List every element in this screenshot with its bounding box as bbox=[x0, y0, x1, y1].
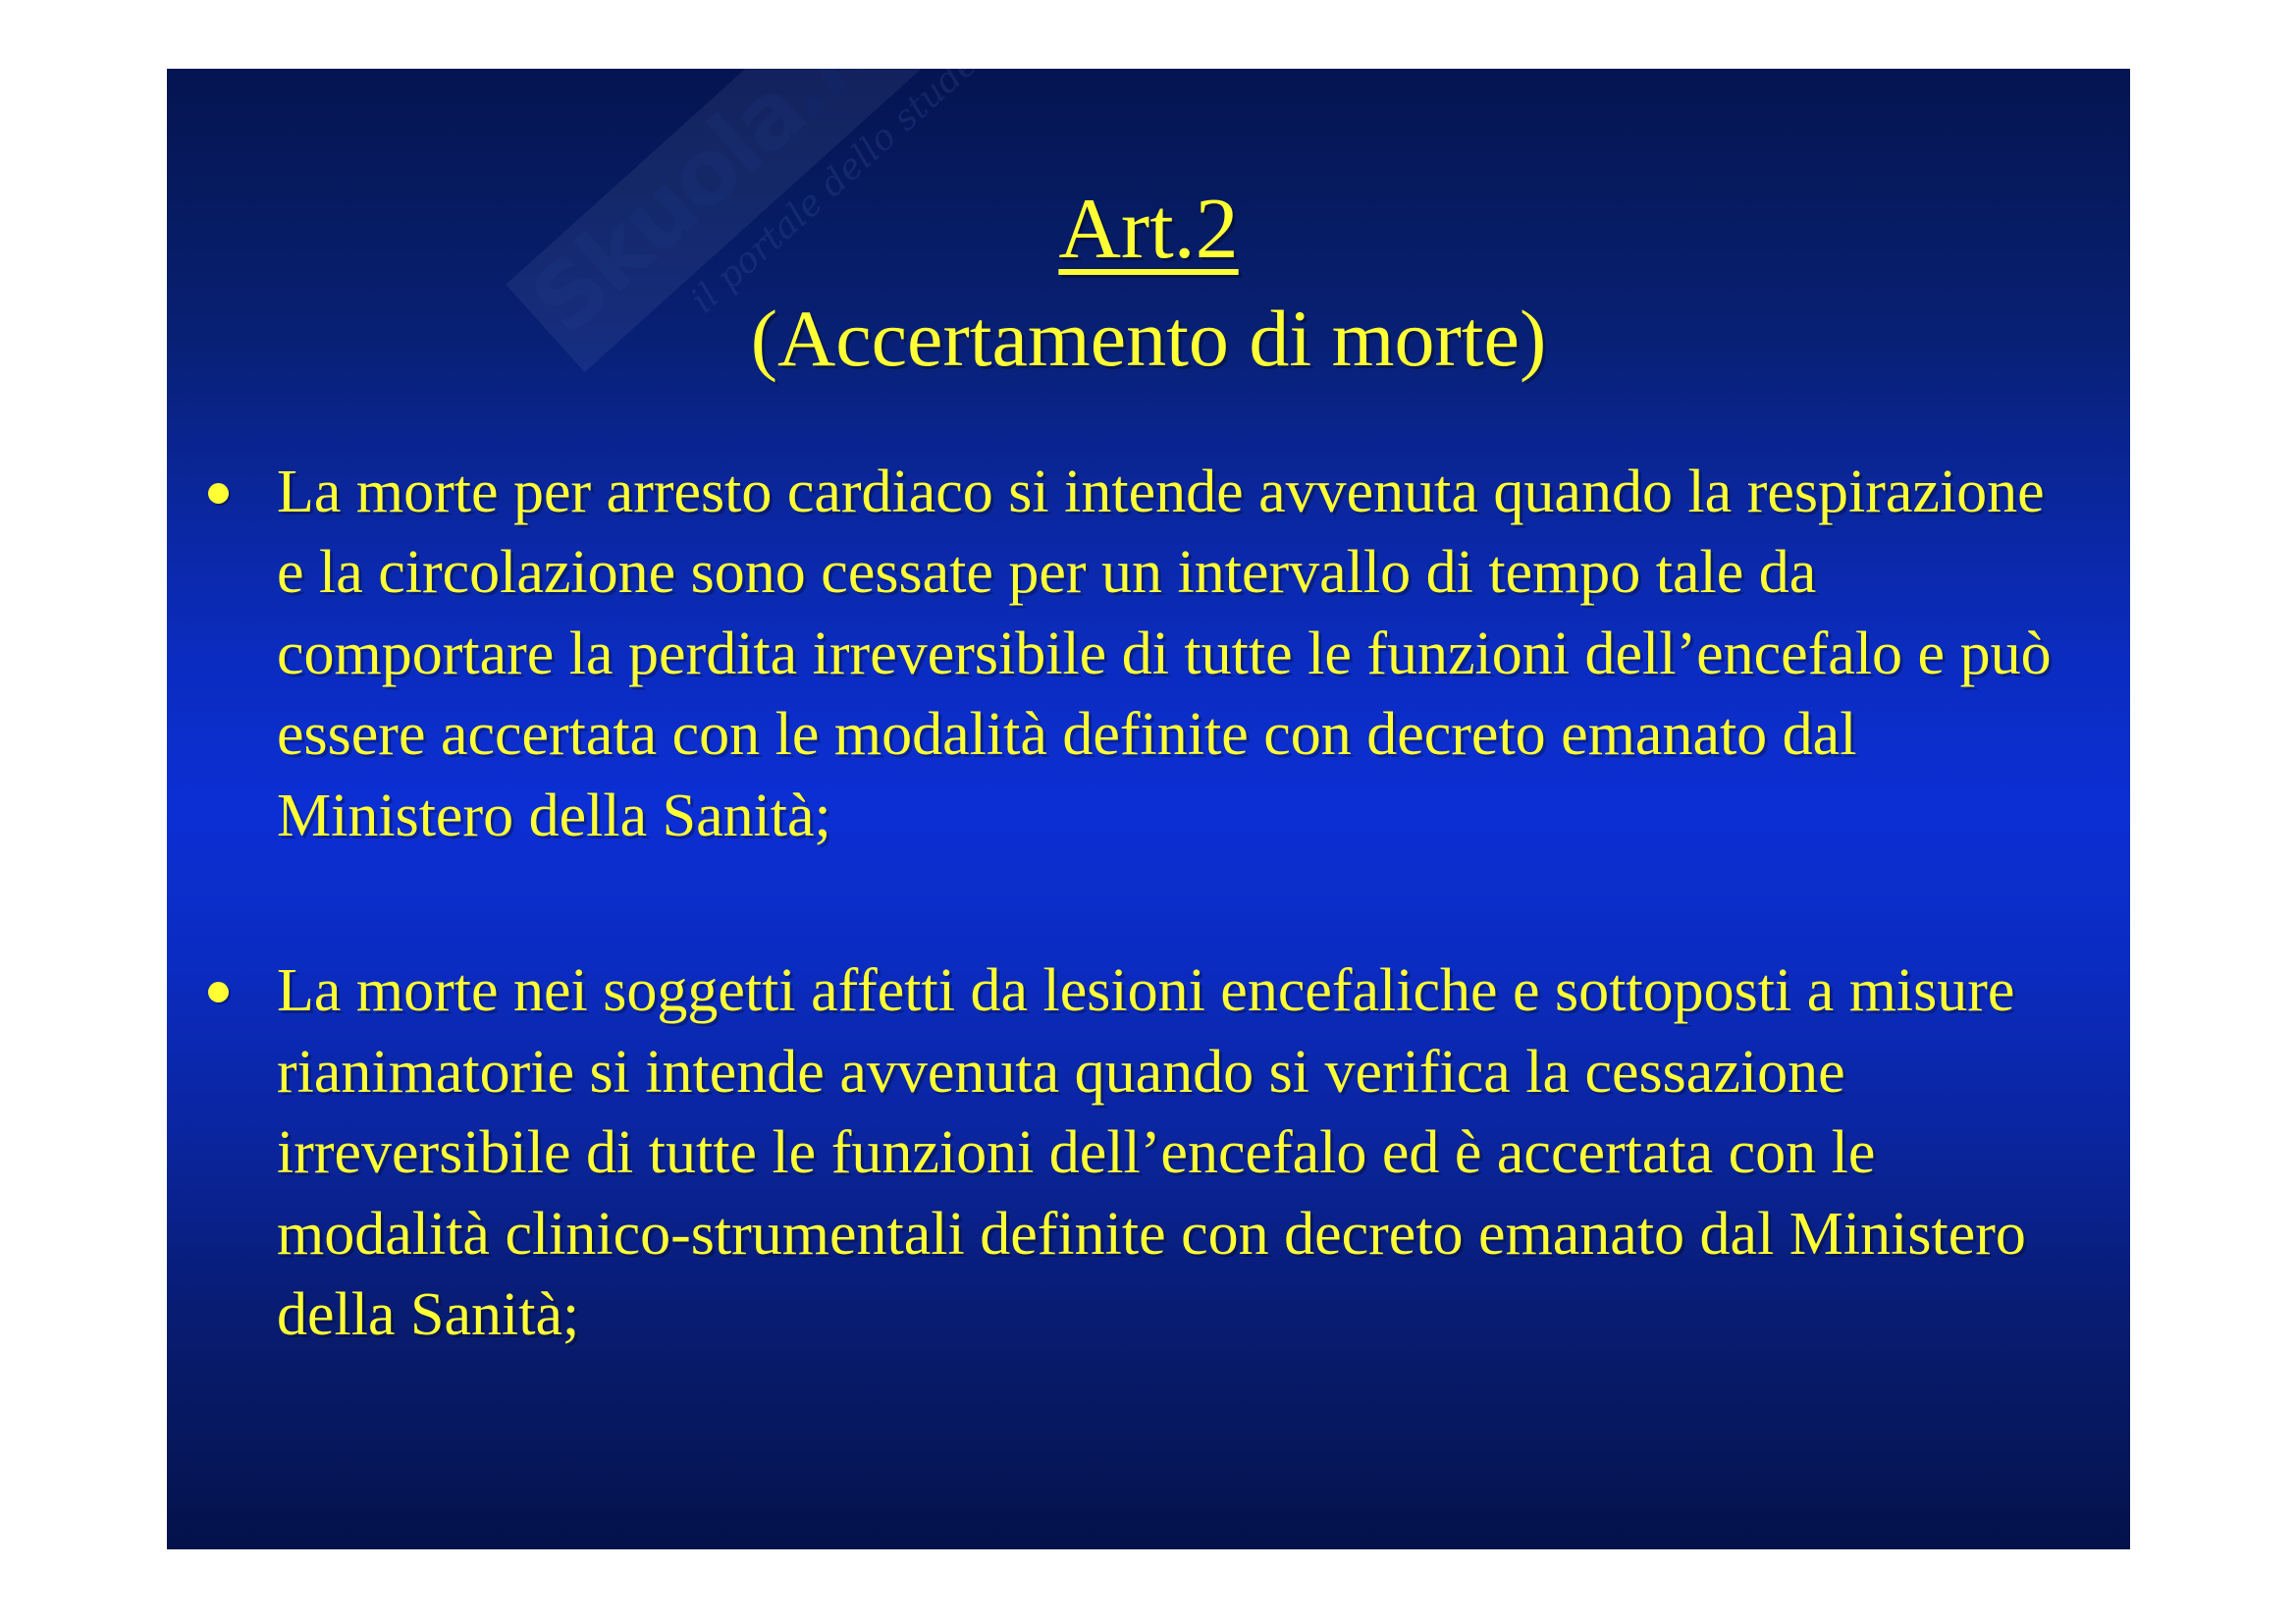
watermark-brand-domain: .net bbox=[754, 69, 966, 136]
bullet-item: La morte nei soggetti affetti da lesioni… bbox=[167, 950, 2130, 1355]
bullet-text: La morte nei soggetti affetti da lesioni… bbox=[277, 957, 2026, 1348]
slide-title-block: Art.2 (Accertamento di morte) bbox=[167, 187, 2130, 379]
bullet-text: La morte per arresto cardiaco si intende… bbox=[277, 459, 2052, 849]
bullet-item: La morte per arresto cardiaco si intende… bbox=[167, 452, 2130, 856]
page-background: Skuola.net il portale dello studente Art… bbox=[0, 0, 2296, 1623]
presentation-slide: Skuola.net il portale dello studente Art… bbox=[167, 69, 2130, 1549]
slide-body: La morte per arresto cardiaco si intende… bbox=[167, 452, 2130, 1356]
bullet-dot-icon bbox=[208, 483, 229, 504]
slide-subtitle-row: (Accertamento di morte) bbox=[167, 298, 2130, 379]
slide-subtitle: (Accertamento di morte) bbox=[751, 298, 1547, 379]
slide-title-row: Art.2 bbox=[167, 187, 2130, 273]
bullet-dot-icon bbox=[208, 982, 229, 1002]
slide-title: Art.2 bbox=[1058, 187, 1238, 273]
